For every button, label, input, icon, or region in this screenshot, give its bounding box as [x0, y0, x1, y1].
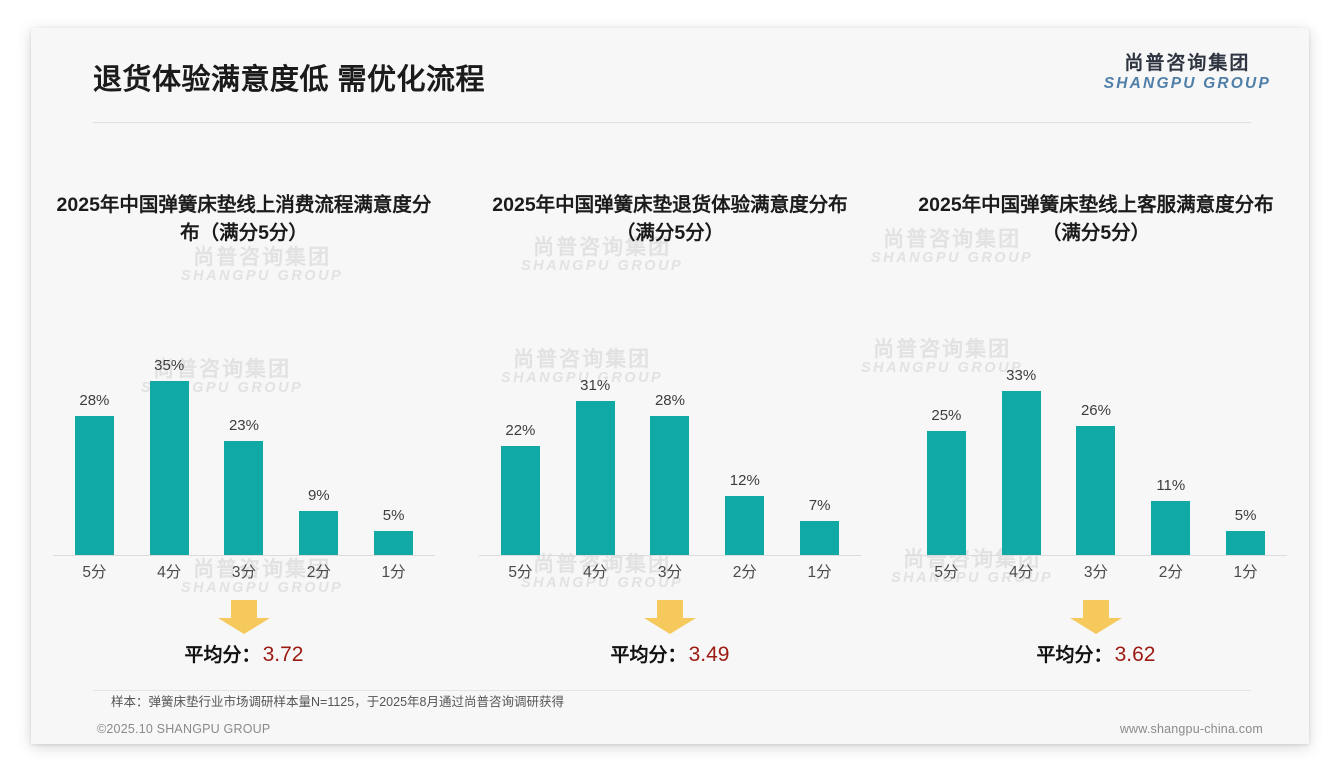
bar[interactable] [1151, 501, 1190, 556]
bar-value-label: 35% [154, 357, 184, 374]
bar[interactable] [800, 521, 839, 556]
bar[interactable] [150, 381, 189, 556]
down-arrow-icon [218, 600, 270, 634]
bar-slot: 35% [132, 298, 207, 556]
chart-panel-3: 2025年中国弹簧床垫线上客服满意度分布（满分5分） 25% 33% 26% [883, 148, 1309, 668]
header-divider [93, 122, 1251, 123]
bar-value-label: 5% [383, 507, 405, 524]
x-axis-line [53, 555, 435, 556]
sample-footnote: 样本：弹簧床垫行业市场调研样本量N=1125，于2025年8月通过尚普咨询调研获… [111, 691, 564, 710]
x-tick-label: 1分 [356, 560, 431, 582]
down-arrow-icon [1070, 600, 1122, 634]
bar[interactable] [1226, 531, 1265, 556]
x-axis-line [905, 555, 1287, 556]
bar-slot: 28% [57, 298, 132, 556]
bar-slot: 26% [1059, 298, 1134, 556]
average-score-value: 3.49 [689, 643, 730, 666]
x-tick-label: 5分 [483, 560, 558, 582]
chart-title: 2025年中国弹簧床垫线上消费流程满意度分布（满分5分） [31, 192, 457, 247]
bar-value-label: 12% [730, 472, 760, 489]
slide-header: 退货体验满意度低 需优化流程 尚普咨询集团 SHANGPU GROUP [31, 28, 1309, 122]
bar-value-label: 5% [1235, 507, 1257, 524]
bar[interactable] [725, 496, 764, 556]
bar-slot: 33% [984, 298, 1059, 556]
x-tick-label: 1分 [1208, 560, 1283, 582]
x-tick-label: 2分 [1133, 560, 1208, 582]
average-annotation: 平均分：3.62 [883, 600, 1309, 667]
average-score-value: 3.72 [263, 643, 304, 666]
x-tick-label: 4分 [984, 560, 1059, 582]
website-link[interactable]: www.shangpu-china.com [1120, 722, 1263, 736]
bar-value-label: 31% [580, 377, 610, 394]
brand-logo: 尚普咨询集团 SHANGPU GROUP [1104, 54, 1271, 92]
bar[interactable] [650, 416, 689, 556]
x-tick-label: 2分 [281, 560, 356, 582]
chart-plot-area: 25% 33% 26% 11% [909, 298, 1283, 556]
average-score-value: 3.62 [1115, 643, 1156, 666]
bar[interactable] [501, 446, 540, 556]
x-tick-label: 5分 [909, 560, 984, 582]
x-axis-tick-labels: 5分 4分 3分 2分 1分 [57, 560, 431, 582]
average-score-text: 平均分：3.72 [31, 640, 457, 667]
chart-plot-area: 28% 35% 23% 9% [57, 298, 431, 556]
bar-value-label: 11% [1156, 477, 1185, 494]
bar-slot: 5% [1208, 298, 1283, 556]
x-tick-label: 4分 [558, 560, 633, 582]
logo-text-en: SHANGPU GROUP [1104, 76, 1271, 92]
logo-text-cn: 尚普咨询集团 [1104, 54, 1271, 74]
bar-slot: 23% [207, 298, 282, 556]
x-tick-label: 3分 [633, 560, 708, 582]
bar-value-label: 25% [931, 407, 961, 424]
bar-slot: 5% [356, 298, 431, 556]
x-tick-label: 2分 [707, 560, 782, 582]
average-score-label: 平均分： [1037, 645, 1113, 666]
bar-value-label: 23% [229, 417, 259, 434]
bar[interactable] [1002, 391, 1041, 556]
chart-title: 2025年中国弹簧床垫线上客服满意度分布（满分5分） [883, 192, 1309, 247]
bar-slot: 22% [483, 298, 558, 556]
bar[interactable] [224, 441, 263, 556]
bar[interactable] [927, 431, 966, 556]
bar-slot: 31% [558, 298, 633, 556]
bar-group: 25% 33% 26% 11% [909, 298, 1283, 556]
bar-slot: 12% [707, 298, 782, 556]
bar-value-label: 28% [79, 392, 109, 409]
bar[interactable] [576, 401, 615, 556]
down-arrow-icon [644, 600, 696, 634]
bar-slot: 9% [281, 298, 356, 556]
average-annotation: 平均分：3.49 [457, 600, 883, 667]
bar-value-label: 26% [1081, 402, 1111, 419]
x-tick-label: 5分 [57, 560, 132, 582]
bar[interactable] [1076, 426, 1115, 556]
bar-value-label: 33% [1006, 367, 1036, 384]
bar[interactable] [374, 531, 413, 556]
chart-plot-area: 22% 31% 28% 12% [483, 298, 857, 556]
charts-row: 2025年中国弹簧床垫线上消费流程满意度分布（满分5分） 28% 35% 23% [31, 148, 1309, 668]
x-axis-tick-labels: 5分 4分 3分 2分 1分 [909, 560, 1283, 582]
average-annotation: 平均分：3.72 [31, 600, 457, 667]
chart-panel-1: 2025年中国弹簧床垫线上消费流程满意度分布（满分5分） 28% 35% 23% [31, 148, 457, 668]
x-tick-label: 1分 [782, 560, 857, 582]
bar-group: 28% 35% 23% 9% [57, 298, 431, 556]
bar-slot: 28% [633, 298, 708, 556]
average-score-label: 平均分： [185, 645, 261, 666]
bar-group: 22% 31% 28% 12% [483, 298, 857, 556]
x-tick-label: 3分 [207, 560, 282, 582]
chart-panel-2: 2025年中国弹簧床垫退货体验满意度分布（满分5分） 22% 31% 28% [457, 148, 883, 668]
x-tick-label: 4分 [132, 560, 207, 582]
page-title: 退货体验满意度低 需优化流程 [93, 56, 485, 98]
bar-value-label: 9% [308, 487, 330, 504]
slide-footer: ©2025.10 SHANGPU GROUP www.shangpu-china… [31, 718, 1309, 744]
bar[interactable] [299, 511, 338, 556]
bar-slot: 11% [1133, 298, 1208, 556]
bar-value-label: 7% [809, 497, 831, 514]
bar[interactable] [75, 416, 114, 556]
bar-slot: 7% [782, 298, 857, 556]
copyright-text: ©2025.10 SHANGPU GROUP [97, 722, 270, 736]
average-score-label: 平均分： [611, 645, 687, 666]
x-axis-line [479, 555, 861, 556]
chart-title: 2025年中国弹簧床垫退货体验满意度分布（满分5分） [457, 192, 883, 247]
x-tick-label: 3分 [1059, 560, 1134, 582]
average-score-text: 平均分：3.62 [883, 640, 1309, 667]
screenshot-canvas: 尚普咨询集团 SHANGPU GROUP 尚普咨询集团 SHANGPU GROU… [0, 0, 1340, 780]
average-score-text: 平均分：3.49 [457, 640, 883, 667]
bar-value-label: 28% [655, 392, 685, 409]
x-axis-tick-labels: 5分 4分 3分 2分 1分 [483, 560, 857, 582]
bar-slot: 25% [909, 298, 984, 556]
slide: 尚普咨询集团 SHANGPU GROUP 尚普咨询集团 SHANGPU GROU… [31, 28, 1309, 744]
bar-value-label: 22% [505, 422, 535, 439]
